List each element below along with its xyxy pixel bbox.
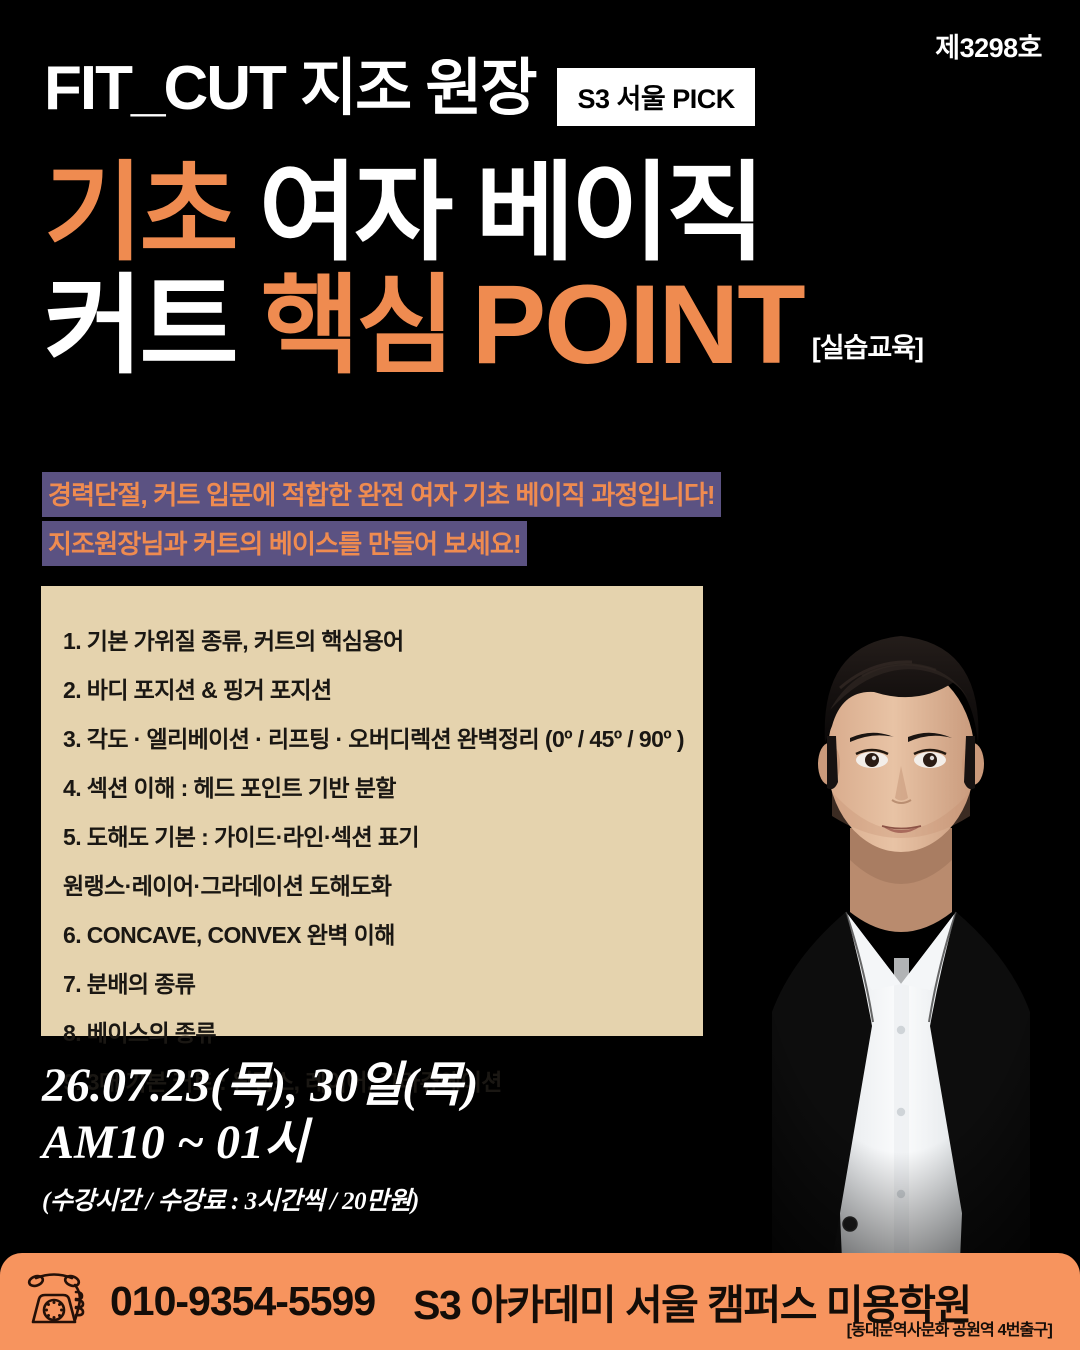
page-title: 기초 여자 베이직 커트 핵심 POINT [실습교육] (44, 158, 923, 382)
headline-word-basic: 기초 (44, 158, 235, 268)
footer-address: [동대문역사문화 공원역 4번출구] (847, 1316, 1052, 1340)
curriculum-box: 1. 기본 가위질 종류, 커트의 핵심용어 2. 바디 포지션 & 핑거 포지… (41, 586, 703, 1036)
headline-word-cut: 커트 (44, 271, 235, 381)
schedule-date: 26.07.23(목), 30일(목) (42, 1058, 478, 1115)
curriculum-item: 7. 분배의 종류 (63, 973, 673, 996)
instructor-portrait (722, 560, 1080, 1260)
subtitle-line-1: 경력단절, 커트 입문에 적합한 완전 여자 기초 베이직 과정입니다! (42, 472, 721, 517)
curriculum-item: 3. 각도 · 엘리베이션 · 리프팅 · 오버디렉션 완벽정리 (0º / 4… (63, 728, 673, 751)
poster-root: 제3298호 FIT_CUT 지조 원장 S3 서울 PICK 기초 여자 베이… (0, 0, 1080, 1350)
schedule-time: AM10 ~ 01시 (42, 1115, 478, 1172)
phone-number[interactable]: 010-9354-5599 (110, 1278, 375, 1325)
footer-bar: 010-9354-5599 S3 아카데미 서울 캠퍼스 미용학원 [동대문역사… (0, 1253, 1080, 1350)
practice-training-tag: [실습교육] (812, 335, 923, 363)
curriculum-item: 8. 베이스의 종류 (63, 1022, 673, 1045)
issue-number: 제3298호 (935, 26, 1042, 65)
curriculum-item: 4. 섹션 이해 : 헤드 포인트 기반 분할 (63, 777, 673, 800)
curriculum-item: 6. CONCAVE, CONVEX 완벽 이해 (63, 924, 673, 947)
headline-line-2: 커트 핵심 POINT [실습교육] (44, 268, 923, 382)
curriculum-item: 2. 바디 포지션 & 핑거 포지션 (63, 679, 673, 702)
schedule-block: 26.07.23(목), 30일(목) AM10 ~ 01시 (수강시간 / 수… (42, 1058, 478, 1217)
subtitle-block: 경력단절, 커트 입문에 적합한 완전 여자 기초 베이직 과정입니다! 지조원… (42, 472, 721, 570)
headline-word-women-basic: 여자 베이직 (259, 158, 762, 268)
headline-word-point: POINT (471, 268, 803, 382)
footer-contact-row: 010-9354-5599 S3 아카데미 서울 캠퍼스 미용학원 (26, 1271, 971, 1331)
telephone-icon (26, 1272, 88, 1330)
brand-row: FIT_CUT 지조 원장 S3 서울 PICK (44, 52, 755, 126)
headline-line-1: 기초 여자 베이직 (44, 158, 923, 268)
curriculum-item: 5. 도해도 기본 : 가이드·라인·섹션 표기 (63, 826, 673, 849)
curriculum-item: 원랭스·레이어·그라데이션 도해도화 (63, 875, 673, 898)
subtitle-line-2: 지조원장님과 커트의 베이스를 만들어 보세요! (42, 521, 527, 566)
pick-badge: S3 서울 PICK (557, 68, 754, 126)
brand-title: FIT_CUT 지조 원장 (44, 58, 535, 120)
schedule-note: (수강시간 / 수강료 : 3시간씩 / 20만원) (42, 1181, 478, 1217)
curriculum-item: 1. 기본 가위질 종류, 커트의 핵심용어 (63, 630, 673, 653)
headline-word-core: 핵심 (261, 271, 452, 381)
